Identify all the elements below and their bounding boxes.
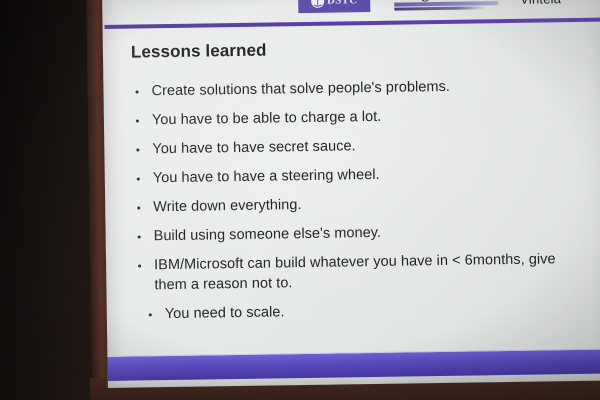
bullet-dot-icon xyxy=(135,90,138,93)
list-item-label: IBM/Microsoft can build whatever you hav… xyxy=(154,249,591,295)
list-item: You have to be able to charge a lot. xyxy=(136,104,588,131)
bullet-dot-icon xyxy=(136,119,139,122)
bullet-dot-icon xyxy=(137,177,140,180)
logo-wedgetail: Wedgetail xyxy=(394,0,512,15)
slide-surface: DSTC Wedgetail Vintela SOFTWARE Lessons … xyxy=(102,0,600,388)
bullet-dot-icon xyxy=(137,206,140,209)
list-item: Write down everything. xyxy=(137,191,589,218)
list-item: Create solutions that solve people's pro… xyxy=(135,75,587,102)
logo-vintela: Vintela xyxy=(520,0,561,12)
logo-vintela-label: Vintela xyxy=(520,0,561,7)
list-item-label: Build using someone else's money. xyxy=(154,223,382,246)
logo-wedgetail-label: Wedgetail xyxy=(394,0,453,2)
bullet-list: Create solutions that solve people's pro… xyxy=(135,75,591,334)
bullet-dot-icon xyxy=(138,235,141,238)
list-item-label: You have to have a steering wheel. xyxy=(153,165,380,188)
logo-dstc-label: DSTC xyxy=(327,0,358,7)
logo-dstc: DSTC xyxy=(298,0,370,13)
globe-icon xyxy=(311,0,324,7)
list-item: You have to have a steering wheel. xyxy=(137,162,589,189)
slide-footer-bar xyxy=(107,348,600,381)
list-item: Build using someone else's money. xyxy=(138,220,590,247)
list-item: You have to have secret sauce. xyxy=(136,133,588,160)
list-item-label: You need to scale. xyxy=(165,302,285,324)
list-item: IBM/Microsoft can build whatever you hav… xyxy=(138,249,591,296)
slide-title: Lessons learned xyxy=(131,41,267,63)
list-item-label: You have to have secret sauce. xyxy=(152,136,356,159)
bullet-dot-icon xyxy=(136,148,139,151)
dark-room-background xyxy=(0,0,98,400)
list-item-label: Write down everything. xyxy=(153,195,302,217)
bullet-dot-icon xyxy=(138,264,141,267)
presentation-photo: DSTC Wedgetail Vintela SOFTWARE Lessons … xyxy=(0,0,600,400)
list-item: You need to scale. xyxy=(149,298,591,325)
list-item-label: Create solutions that solve people's pro… xyxy=(151,77,450,101)
logo-wedgetail-underbar-secondary xyxy=(394,6,486,10)
bullet-dot-icon xyxy=(149,313,152,316)
list-item-label: You have to be able to charge a lot. xyxy=(152,107,382,130)
